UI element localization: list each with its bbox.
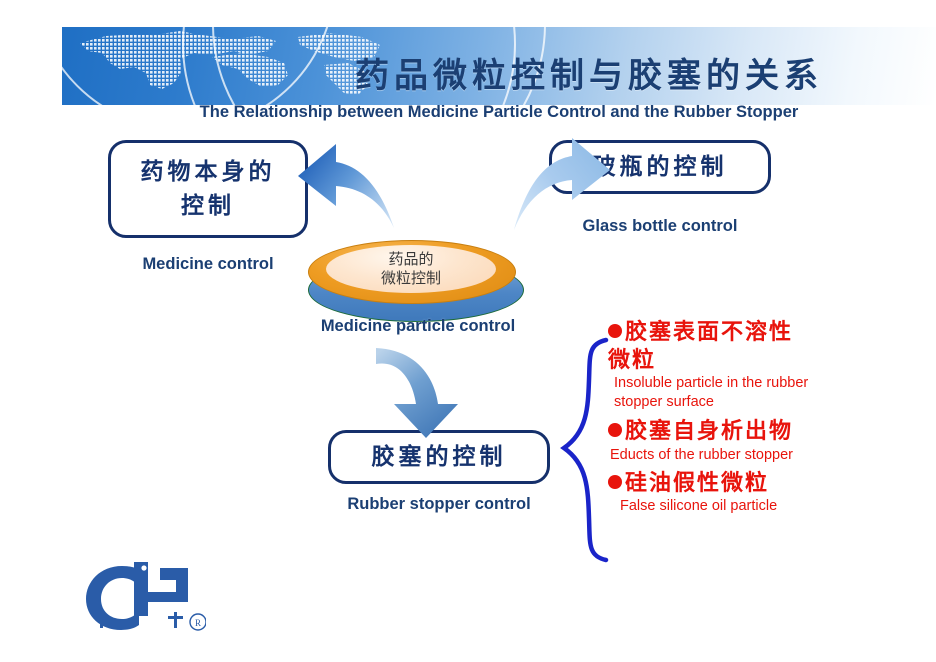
node-medicine-control-caption: Medicine control: [108, 255, 308, 274]
center-disc-label: 药品的 微粒控制: [326, 245, 496, 293]
bullet-1-cn-line1: 胶塞表面不溶性: [608, 318, 928, 346]
node-medicine-control[interactable]: 药物本身的 控制: [108, 140, 308, 238]
node-glass-bottle-control-label: 玻瓶的控制: [593, 150, 728, 185]
bullet-dot-icon: [608, 423, 622, 437]
bullet-3-cn: 硅油假性微粒: [608, 469, 928, 497]
bullet-3-en: False silicone oil particle: [608, 497, 928, 516]
bullet-dot-icon: [608, 475, 622, 489]
node-medicine-control-label-line1: 药物本身的: [141, 155, 276, 190]
node-rubber-stopper-control-label: 胶塞的控制: [372, 440, 507, 475]
bullet-item-insoluble-particle: 胶塞表面不溶性 微粒 Insoluble particle in the rub…: [608, 318, 928, 411]
bullet-item-silicone-oil: 硅油假性微粒 False silicone oil particle: [608, 469, 928, 516]
bullet-dot-icon: [608, 324, 622, 338]
center-disc-caption: Medicine particle control: [288, 317, 548, 336]
node-rubber-stopper-control-caption: Rubber stopper control: [318, 495, 560, 514]
bullet-item-educts: 胶塞自身析出物 Educts of the rubber stopper: [608, 417, 928, 464]
page-title-en: The Relationship between Medicine Partic…: [62, 103, 936, 122]
arrow-to-medicine-icon: [296, 132, 416, 244]
center-disc-label-line2: 微粒控制: [381, 269, 441, 288]
arrow-to-stopper-icon: [372, 342, 482, 442]
center-disc-label-line1: 药品的: [388, 250, 433, 269]
hualan-logo-icon: R: [76, 556, 206, 638]
bullet-list: 胶塞表面不溶性 微粒 Insoluble particle in the rub…: [608, 318, 928, 517]
bullet-1-en-line1: Insoluble particle in the rubber: [608, 374, 928, 393]
slide-canvas: 药品微粒控制与胶塞的关系 The Relationship between Me…: [0, 0, 936, 662]
svg-text:R: R: [195, 618, 201, 628]
arrow-to-glass-icon: [492, 130, 612, 242]
curly-brace-icon: [556, 336, 614, 564]
bullet-1-en-line2: stopper surface: [608, 393, 928, 412]
bullet-2-cn: 胶塞自身析出物: [608, 417, 928, 445]
node-medicine-control-label-line2: 控制: [141, 189, 276, 224]
center-disc[interactable]: 药品的 微粒控制: [300, 232, 522, 322]
bullet-1-cn-line2: 微粒: [608, 346, 928, 374]
bullet-2-en: Educts of the rubber stopper: [608, 446, 928, 465]
page-title-cn: 药品微粒控制与胶塞的关系: [355, 48, 875, 97]
